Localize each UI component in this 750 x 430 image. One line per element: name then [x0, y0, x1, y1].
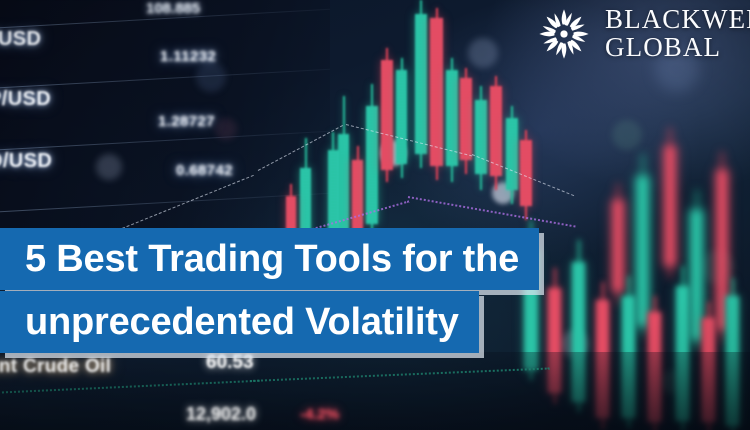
brand-name-line2: GLOBAL — [605, 34, 750, 62]
brand-name-line1: BLACKWELL — [605, 6, 750, 34]
background-image: /USD P/USD D/USD 1.11232 1.28727 0.68742… — [0, 0, 750, 430]
banner-canvas: /USD P/USD D/USD 1.11232 1.28727 0.68742… — [0, 0, 750, 430]
headline-line-1: 5 Best Trading Tools for the — [0, 228, 539, 290]
starburst-snowflake-icon — [536, 6, 592, 62]
vignette-overlay — [0, 0, 750, 430]
headline-line-2: unprecedented Volatility — [0, 291, 479, 353]
brand-name: BLACKWELL GLOBAL — [605, 6, 750, 61]
brand-logo[interactable]: BLACKWELL GLOBAL — [536, 6, 750, 62]
headline-banner: 5 Best Trading Tools for the unprecedent… — [0, 228, 539, 353]
